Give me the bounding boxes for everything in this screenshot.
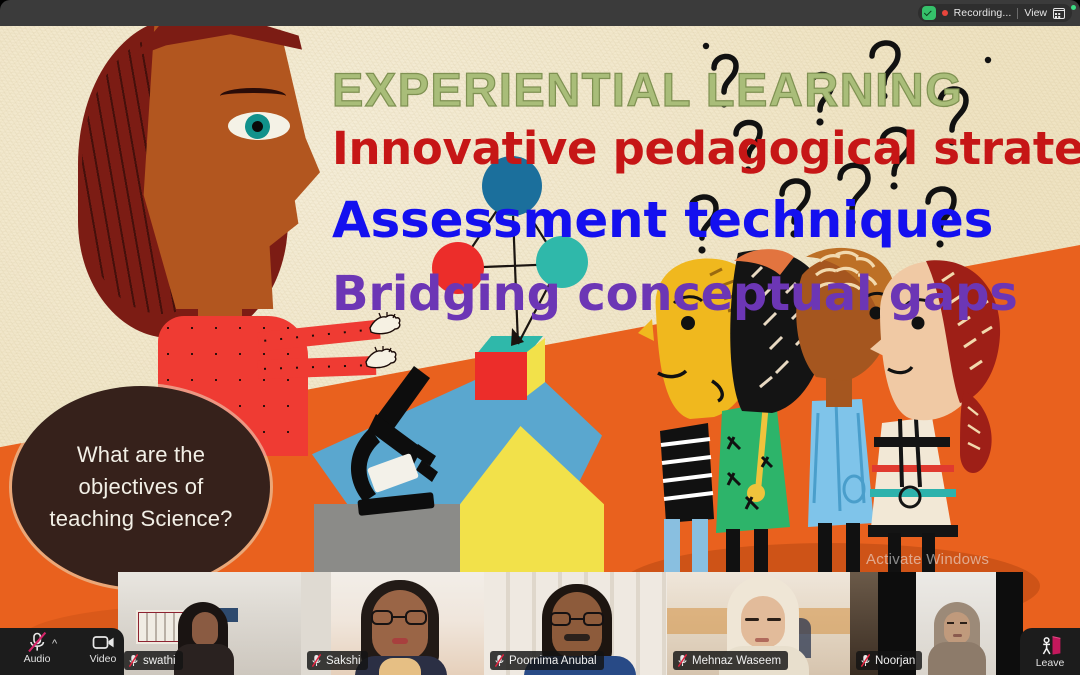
participant-name: swathi [143,655,176,667]
participant-nametag: Noorjan [856,651,922,670]
camera-icon [90,632,116,652]
video-label: Video [90,653,117,665]
shield-check-icon [922,6,936,20]
participant-name: Mehnaz Waseem [692,655,781,667]
divider [1017,8,1018,19]
leave-button[interactable]: Leave [1020,628,1080,675]
participant-nametag: Sakshi [307,651,368,670]
participant-name: Sakshi [326,655,361,667]
window-titlebar: Recording... View [0,0,1080,26]
eyebrow [220,88,286,104]
question-callout-text: What are the objectives of teaching Scie… [41,439,241,535]
meeting-window: Recording... View [0,0,1080,675]
microphone-muted-icon [678,654,687,667]
meeting-toolbar: Audio ^ Video [0,628,124,675]
participant-tile[interactable]: Sakshi [301,572,484,675]
node-blue [482,156,542,216]
calendar-icon[interactable] [1053,8,1065,19]
node-teal [536,236,588,288]
recording-dot-icon [942,10,948,16]
node-red [432,242,484,294]
video-button[interactable]: Video [82,632,124,665]
activate-windows-watermark: Activate Windows [866,551,989,568]
microphone-muted-icon [495,654,504,667]
molecule-diagram [400,146,630,376]
audio-label: Audio [24,653,51,665]
audio-button[interactable]: Audio [18,632,56,665]
microphone-muted-icon [129,654,138,667]
participant-tile[interactable]: swathi [118,572,301,675]
participant-name: Noorjan [875,655,915,667]
leave-door-icon [1037,635,1063,656]
students-group-illustration [630,241,1080,611]
participant-tile[interactable]: Mehnaz Waseem [667,572,850,675]
student-4 [868,260,1000,589]
eye-pupil [252,121,263,132]
face-shape [140,26,320,309]
participant-tile[interactable]: Poornima Anubal [484,572,667,675]
leave-label: Leave [1036,657,1065,669]
status-pip [1071,5,1076,10]
participant-nametag: Poornima Anubal [490,651,604,670]
participant-tile[interactable]: Noorjan [850,572,1023,675]
recording-status-cluster[interactable]: Recording... View [918,4,1072,22]
recording-label: Recording... [954,7,1012,19]
question-callout-circle: What are the objectives of teaching Scie… [12,386,270,588]
microphone-muted-icon [861,654,870,667]
participant-name: Poornima Anubal [509,655,597,667]
microphone-muted-icon [312,654,321,667]
participant-filmstrip: swathi Sakshi [118,572,1023,675]
microphone-muted-icon [24,632,50,652]
participant-nametag: swathi [124,651,183,670]
view-button[interactable]: View [1024,7,1047,19]
participant-nametag: Mehnaz Waseem [673,651,788,670]
audio-options-caret[interactable]: ^ [52,638,57,650]
